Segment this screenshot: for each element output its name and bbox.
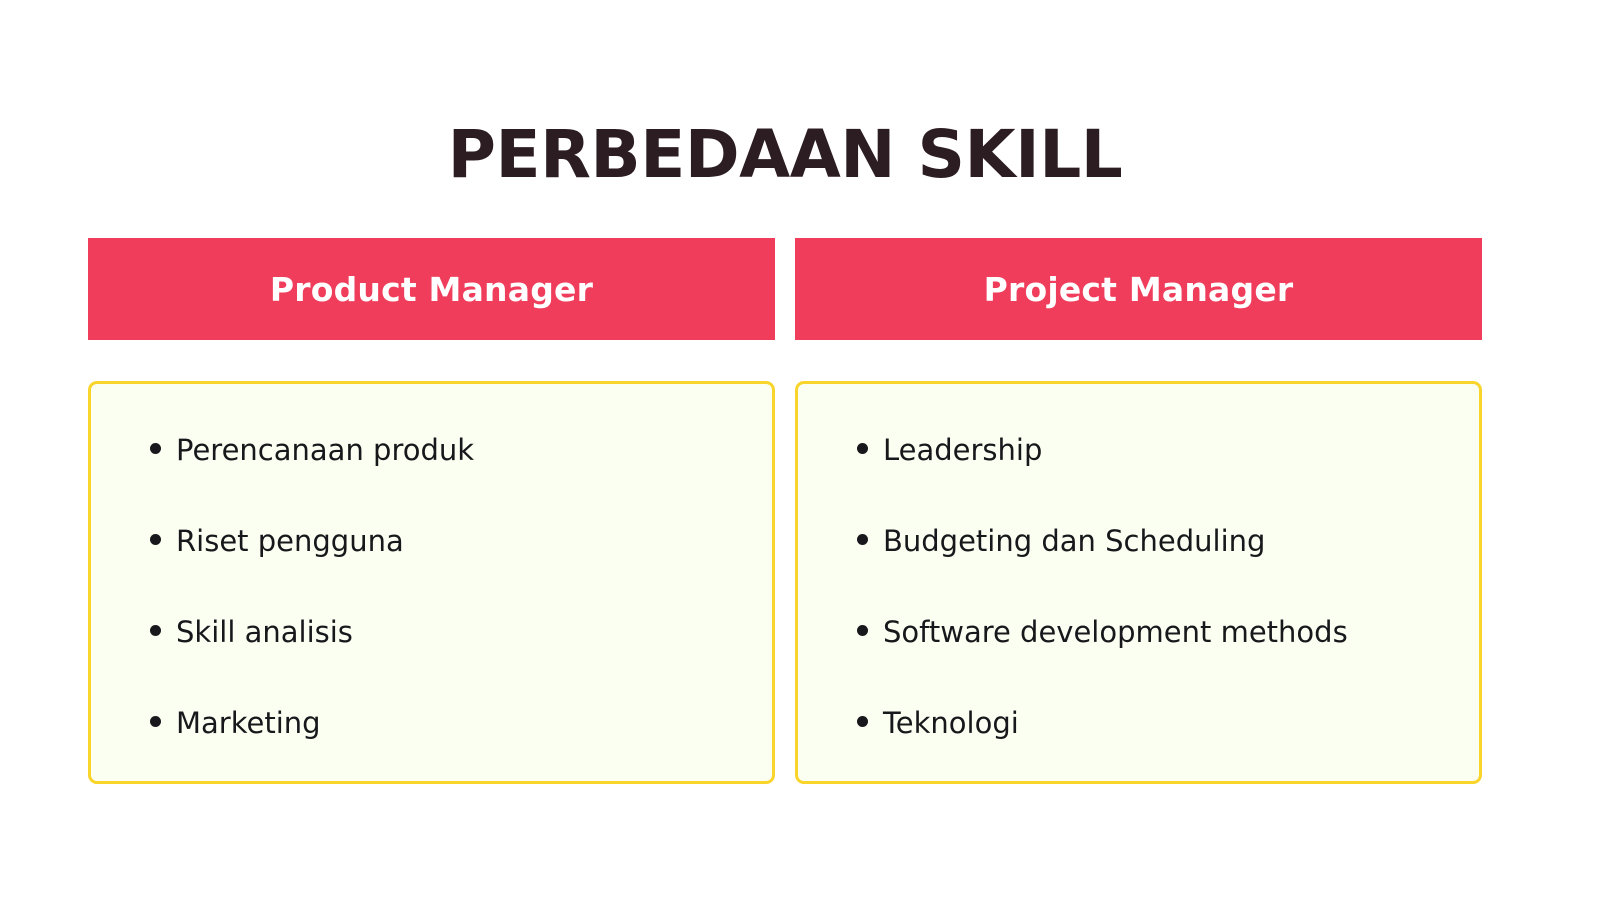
skill-list-product-manager: Perencanaan produk Riset pengguna Skill … — [121, 436, 742, 800]
bullet-icon — [150, 534, 161, 545]
bullet-icon — [150, 443, 161, 454]
list-item: Budgeting dan Scheduling — [828, 527, 1449, 618]
column-body-project-manager: Leadership Budgeting dan Scheduling Soft… — [795, 381, 1482, 784]
list-item: Perencanaan produk — [121, 436, 742, 527]
column-header-label: Project Manager — [984, 273, 1294, 306]
list-item: Leadership — [828, 436, 1449, 527]
list-item: Riset pengguna — [121, 527, 742, 618]
slide-canvas: PERBEDAAN SKILL Product Manager Perencan… — [0, 0, 1600, 900]
list-item-label: Skill analisis — [176, 618, 353, 647]
column-header-product-manager: Product Manager — [88, 238, 775, 340]
list-item: Software development methods — [828, 618, 1449, 709]
bullet-icon — [857, 716, 868, 727]
bullet-icon — [857, 534, 868, 545]
list-item: Skill analisis — [121, 618, 742, 709]
list-item-label: Perencanaan produk — [176, 436, 474, 465]
bullet-icon — [150, 716, 161, 727]
comparison-columns: Product Manager Perencanaan produk Riset… — [88, 238, 1482, 784]
list-item-label: Marketing — [176, 709, 321, 738]
skill-list-project-manager: Leadership Budgeting dan Scheduling Soft… — [828, 436, 1449, 800]
list-item: Marketing — [121, 709, 742, 800]
column-product-manager: Product Manager Perencanaan produk Riset… — [88, 238, 775, 784]
page-title: PERBEDAAN SKILL — [0, 122, 1570, 188]
list-item-label: Riset pengguna — [176, 527, 404, 556]
list-item-label: Leadership — [883, 436, 1042, 465]
column-body-product-manager: Perencanaan produk Riset pengguna Skill … — [88, 381, 775, 784]
list-item-label: Software development methods — [883, 618, 1348, 647]
bullet-icon — [857, 443, 868, 454]
bullet-icon — [857, 625, 868, 636]
column-header-project-manager: Project Manager — [795, 238, 1482, 340]
list-item-label: Teknologi — [883, 709, 1019, 738]
column-project-manager: Project Manager Leadership Budgeting dan… — [795, 238, 1482, 784]
list-item: Teknologi — [828, 709, 1449, 800]
bullet-icon — [150, 625, 161, 636]
list-item-label: Budgeting dan Scheduling — [883, 527, 1265, 556]
column-header-label: Product Manager — [270, 273, 593, 306]
